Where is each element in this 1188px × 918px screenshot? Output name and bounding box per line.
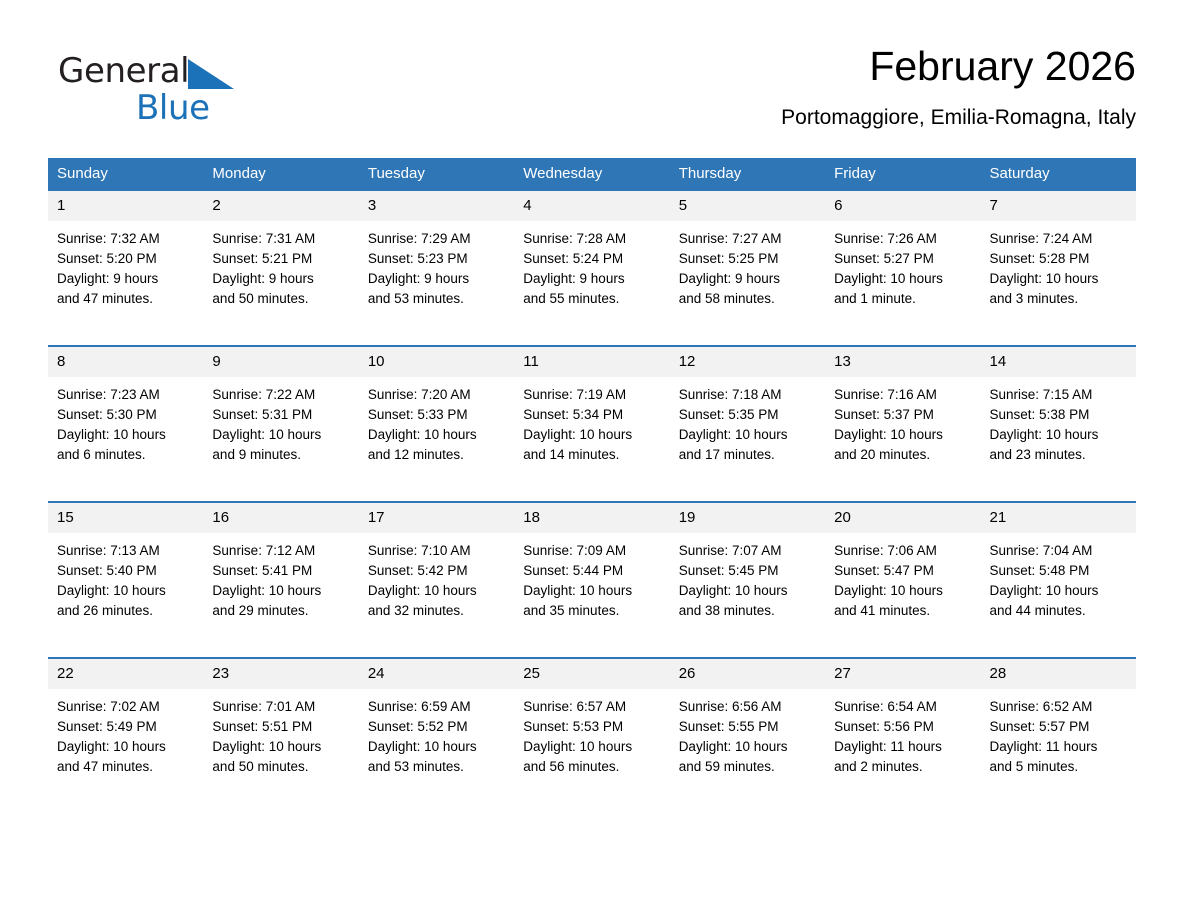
daylight-text-line2: and 47 minutes.	[57, 289, 195, 309]
day-details: Sunrise: 7:22 AM Sunset: 5:31 PM Dayligh…	[203, 377, 358, 501]
sunset-text: Sunset: 5:37 PM	[834, 405, 972, 425]
daylight-text-line2: and 9 minutes.	[212, 445, 350, 465]
daylight-text-line1: Daylight: 9 hours	[212, 269, 350, 289]
daylight-text-line1: Daylight: 10 hours	[368, 737, 506, 757]
day-details: Sunrise: 7:16 AM Sunset: 5:37 PM Dayligh…	[825, 377, 980, 501]
calendar-day-cell[interactable]: 17 Sunrise: 7:10 AM Sunset: 5:42 PM Dayl…	[359, 502, 514, 658]
sunset-text: Sunset: 5:21 PM	[212, 249, 350, 269]
page-title: February 2026	[781, 40, 1136, 92]
daylight-text-line1: Daylight: 10 hours	[212, 425, 350, 445]
daylight-text-line1: Daylight: 10 hours	[212, 737, 350, 757]
day-details: Sunrise: 7:13 AM Sunset: 5:40 PM Dayligh…	[48, 533, 203, 657]
calendar-week-row: 22 Sunrise: 7:02 AM Sunset: 5:49 PM Dayl…	[48, 658, 1136, 813]
weekday-header-wednesday: Wednesday	[514, 158, 669, 191]
day-number: 25	[514, 659, 669, 689]
sunrise-text: Sunrise: 7:16 AM	[834, 385, 972, 405]
sunset-text: Sunset: 5:48 PM	[990, 561, 1128, 581]
sunrise-text: Sunrise: 7:01 AM	[212, 697, 350, 717]
weekday-header-saturday: Saturday	[981, 158, 1136, 191]
daylight-text-line2: and 58 minutes.	[679, 289, 817, 309]
calendar-week-row: 8 Sunrise: 7:23 AM Sunset: 5:30 PM Dayli…	[48, 346, 1136, 502]
logo-general-text: General	[58, 52, 189, 90]
daylight-text-line2: and 23 minutes.	[990, 445, 1128, 465]
sunset-text: Sunset: 5:38 PM	[990, 405, 1128, 425]
daylight-text-line1: Daylight: 10 hours	[679, 581, 817, 601]
sunset-text: Sunset: 5:51 PM	[212, 717, 350, 737]
sunset-text: Sunset: 5:55 PM	[679, 717, 817, 737]
sunset-text: Sunset: 5:20 PM	[57, 249, 195, 269]
sunset-text: Sunset: 5:24 PM	[523, 249, 661, 269]
daylight-text-line2: and 6 minutes.	[57, 445, 195, 465]
daylight-text-line2: and 53 minutes.	[368, 757, 506, 777]
day-details: Sunrise: 7:06 AM Sunset: 5:47 PM Dayligh…	[825, 533, 980, 657]
daylight-text-line2: and 59 minutes.	[679, 757, 817, 777]
day-details: Sunrise: 6:59 AM Sunset: 5:52 PM Dayligh…	[359, 689, 514, 813]
day-details: Sunrise: 7:27 AM Sunset: 5:25 PM Dayligh…	[670, 221, 825, 345]
day-details: Sunrise: 7:12 AM Sunset: 5:41 PM Dayligh…	[203, 533, 358, 657]
daylight-text-line2: and 47 minutes.	[57, 757, 195, 777]
sunset-text: Sunset: 5:35 PM	[679, 405, 817, 425]
calendar-day-cell[interactable]: 28 Sunrise: 6:52 AM Sunset: 5:57 PM Dayl…	[981, 658, 1136, 813]
daylight-text-line2: and 17 minutes.	[679, 445, 817, 465]
daylight-text-line1: Daylight: 10 hours	[57, 581, 195, 601]
title-block: February 2026 Portomaggiore, Emilia-Roma…	[781, 40, 1136, 132]
sunset-text: Sunset: 5:44 PM	[523, 561, 661, 581]
sunset-text: Sunset: 5:52 PM	[368, 717, 506, 737]
day-number: 6	[825, 191, 980, 221]
sunrise-text: Sunrise: 6:57 AM	[523, 697, 661, 717]
calendar-week-row: 15 Sunrise: 7:13 AM Sunset: 5:40 PM Dayl…	[48, 502, 1136, 658]
day-details: Sunrise: 7:09 AM Sunset: 5:44 PM Dayligh…	[514, 533, 669, 657]
day-details: Sunrise: 7:18 AM Sunset: 5:35 PM Dayligh…	[670, 377, 825, 501]
calendar-day-cell[interactable]: 16 Sunrise: 7:12 AM Sunset: 5:41 PM Dayl…	[203, 502, 358, 658]
day-number: 5	[670, 191, 825, 221]
sunset-text: Sunset: 5:34 PM	[523, 405, 661, 425]
weekday-header-row: Sunday Monday Tuesday Wednesday Thursday…	[48, 158, 1136, 191]
calendar-day-cell[interactable]: 7 Sunrise: 7:24 AM Sunset: 5:28 PM Dayli…	[981, 191, 1136, 346]
calendar-body: 1 Sunrise: 7:32 AM Sunset: 5:20 PM Dayli…	[48, 191, 1136, 813]
calendar-day-cell[interactable]: 26 Sunrise: 6:56 AM Sunset: 5:55 PM Dayl…	[670, 658, 825, 813]
daylight-text-line2: and 50 minutes.	[212, 757, 350, 777]
sunrise-text: Sunrise: 7:06 AM	[834, 541, 972, 561]
daylight-text-line2: and 41 minutes.	[834, 601, 972, 621]
daylight-text-line2: and 35 minutes.	[523, 601, 661, 621]
calendar-day-cell[interactable]: 23 Sunrise: 7:01 AM Sunset: 5:51 PM Dayl…	[203, 658, 358, 813]
sunrise-text: Sunrise: 7:28 AM	[523, 229, 661, 249]
sunrise-text: Sunrise: 7:20 AM	[368, 385, 506, 405]
calendar-day-cell[interactable]: 9 Sunrise: 7:22 AM Sunset: 5:31 PM Dayli…	[203, 346, 358, 502]
weekday-header-sunday: Sunday	[48, 158, 203, 191]
day-number: 12	[670, 347, 825, 377]
logo-blue-text: Blue	[136, 88, 210, 128]
calendar-day-cell[interactable]: 5 Sunrise: 7:27 AM Sunset: 5:25 PM Dayli…	[670, 191, 825, 346]
page-subtitle: Portomaggiore, Emilia-Romagna, Italy	[781, 104, 1136, 132]
masthead: General Blue February 2026 Portomaggiore…	[48, 40, 1136, 148]
day-number: 11	[514, 347, 669, 377]
sunrise-text: Sunrise: 6:54 AM	[834, 697, 972, 717]
daylight-text-line1: Daylight: 10 hours	[368, 425, 506, 445]
sunrise-text: Sunrise: 6:52 AM	[990, 697, 1128, 717]
sunset-text: Sunset: 5:28 PM	[990, 249, 1128, 269]
calendar-day-cell[interactable]: 22 Sunrise: 7:02 AM Sunset: 5:49 PM Dayl…	[48, 658, 203, 813]
daylight-text-line2: and 56 minutes.	[523, 757, 661, 777]
day-number: 28	[981, 659, 1136, 689]
generalblue-logo[interactable]: General Blue	[58, 52, 318, 142]
calendar-day-cell[interactable]: 8 Sunrise: 7:23 AM Sunset: 5:30 PM Dayli…	[48, 346, 203, 502]
sunset-text: Sunset: 5:41 PM	[212, 561, 350, 581]
daylight-text-line1: Daylight: 10 hours	[834, 269, 972, 289]
sunrise-text: Sunrise: 7:02 AM	[57, 697, 195, 717]
day-number: 15	[48, 503, 203, 533]
day-number: 9	[203, 347, 358, 377]
daylight-text-line1: Daylight: 10 hours	[523, 581, 661, 601]
sunset-text: Sunset: 5:53 PM	[523, 717, 661, 737]
day-details: Sunrise: 6:54 AM Sunset: 5:56 PM Dayligh…	[825, 689, 980, 813]
daylight-text-line1: Daylight: 9 hours	[57, 269, 195, 289]
day-number: 23	[203, 659, 358, 689]
sunrise-sunset-calendar: Sunday Monday Tuesday Wednesday Thursday…	[48, 158, 1136, 813]
calendar-page: General Blue February 2026 Portomaggiore…	[0, 0, 1188, 918]
calendar-day-cell[interactable]: 6 Sunrise: 7:26 AM Sunset: 5:27 PM Dayli…	[825, 191, 980, 346]
day-details: Sunrise: 7:28 AM Sunset: 5:24 PM Dayligh…	[514, 221, 669, 345]
sunrise-text: Sunrise: 7:22 AM	[212, 385, 350, 405]
sunrise-text: Sunrise: 7:24 AM	[990, 229, 1128, 249]
daylight-text-line2: and 5 minutes.	[990, 757, 1128, 777]
daylight-text-line2: and 53 minutes.	[368, 289, 506, 309]
calendar-day-cell[interactable]: 14 Sunrise: 7:15 AM Sunset: 5:38 PM Dayl…	[981, 346, 1136, 502]
sunset-text: Sunset: 5:47 PM	[834, 561, 972, 581]
day-number: 8	[48, 347, 203, 377]
daylight-text-line2: and 32 minutes.	[368, 601, 506, 621]
day-number: 14	[981, 347, 1136, 377]
daylight-text-line2: and 38 minutes.	[679, 601, 817, 621]
day-number: 16	[203, 503, 358, 533]
sunrise-text: Sunrise: 6:59 AM	[368, 697, 506, 717]
sunrise-text: Sunrise: 7:13 AM	[57, 541, 195, 561]
daylight-text-line2: and 29 minutes.	[212, 601, 350, 621]
sunset-text: Sunset: 5:40 PM	[57, 561, 195, 581]
daylight-text-line1: Daylight: 10 hours	[834, 581, 972, 601]
calendar-day-cell[interactable]: 24 Sunrise: 6:59 AM Sunset: 5:52 PM Dayl…	[359, 658, 514, 813]
calendar-day-cell[interactable]: 15 Sunrise: 7:13 AM Sunset: 5:40 PM Dayl…	[48, 502, 203, 658]
logo-top-row: General	[58, 52, 318, 92]
sunrise-text: Sunrise: 7:29 AM	[368, 229, 506, 249]
daylight-text-line1: Daylight: 10 hours	[523, 737, 661, 757]
sunrise-text: Sunrise: 7:27 AM	[679, 229, 817, 249]
day-number: 17	[359, 503, 514, 533]
day-number: 18	[514, 503, 669, 533]
day-number: 1	[48, 191, 203, 221]
calendar-week-row: 1 Sunrise: 7:32 AM Sunset: 5:20 PM Dayli…	[48, 191, 1136, 346]
day-details: Sunrise: 7:02 AM Sunset: 5:49 PM Dayligh…	[48, 689, 203, 813]
day-details: Sunrise: 7:29 AM Sunset: 5:23 PM Dayligh…	[359, 221, 514, 345]
day-details: Sunrise: 7:04 AM Sunset: 5:48 PM Dayligh…	[981, 533, 1136, 657]
day-number: 21	[981, 503, 1136, 533]
weekday-header-monday: Monday	[203, 158, 358, 191]
sunset-text: Sunset: 5:27 PM	[834, 249, 972, 269]
day-number: 7	[981, 191, 1136, 221]
daylight-text-line2: and 1 minute.	[834, 289, 972, 309]
daylight-text-line1: Daylight: 10 hours	[679, 425, 817, 445]
calendar-day-cell[interactable]: 12 Sunrise: 7:18 AM Sunset: 5:35 PM Dayl…	[670, 346, 825, 502]
sunrise-text: Sunrise: 7:04 AM	[990, 541, 1128, 561]
day-number: 24	[359, 659, 514, 689]
day-details: Sunrise: 6:57 AM Sunset: 5:53 PM Dayligh…	[514, 689, 669, 813]
daylight-text-line1: Daylight: 9 hours	[523, 269, 661, 289]
sunrise-text: Sunrise: 7:18 AM	[679, 385, 817, 405]
calendar-day-cell[interactable]: 2 Sunrise: 7:31 AM Sunset: 5:21 PM Dayli…	[203, 191, 358, 346]
sunrise-text: Sunrise: 7:26 AM	[834, 229, 972, 249]
sunrise-text: Sunrise: 7:09 AM	[523, 541, 661, 561]
day-number: 3	[359, 191, 514, 221]
sunrise-text: Sunrise: 7:31 AM	[212, 229, 350, 249]
daylight-text-line1: Daylight: 10 hours	[990, 581, 1128, 601]
calendar-day-cell[interactable]: 4 Sunrise: 7:28 AM Sunset: 5:24 PM Dayli…	[514, 191, 669, 346]
weekday-header-thursday: Thursday	[670, 158, 825, 191]
calendar-day-cell[interactable]: 27 Sunrise: 6:54 AM Sunset: 5:56 PM Dayl…	[825, 658, 980, 813]
daylight-text-line1: Daylight: 10 hours	[368, 581, 506, 601]
day-details: Sunrise: 7:15 AM Sunset: 5:38 PM Dayligh…	[981, 377, 1136, 501]
calendar-day-cell[interactable]: 18 Sunrise: 7:09 AM Sunset: 5:44 PM Dayl…	[514, 502, 669, 658]
day-number: 10	[359, 347, 514, 377]
day-number: 19	[670, 503, 825, 533]
daylight-text-line1: Daylight: 10 hours	[990, 425, 1128, 445]
sunrise-text: Sunrise: 7:32 AM	[57, 229, 195, 249]
day-number: 13	[825, 347, 980, 377]
day-details: Sunrise: 7:19 AM Sunset: 5:34 PM Dayligh…	[514, 377, 669, 501]
calendar-day-cell[interactable]: 1 Sunrise: 7:32 AM Sunset: 5:20 PM Dayli…	[48, 191, 203, 346]
calendar-day-cell[interactable]: 10 Sunrise: 7:20 AM Sunset: 5:33 PM Dayl…	[359, 346, 514, 502]
sunset-text: Sunset: 5:45 PM	[679, 561, 817, 581]
calendar-day-cell[interactable]: 21 Sunrise: 7:04 AM Sunset: 5:48 PM Dayl…	[981, 502, 1136, 658]
daylight-text-line2: and 3 minutes.	[990, 289, 1128, 309]
day-details: Sunrise: 6:56 AM Sunset: 5:55 PM Dayligh…	[670, 689, 825, 813]
day-number: 20	[825, 503, 980, 533]
calendar-day-cell[interactable]: 25 Sunrise: 6:57 AM Sunset: 5:53 PM Dayl…	[514, 658, 669, 813]
calendar-day-cell[interactable]: 19 Sunrise: 7:07 AM Sunset: 5:45 PM Dayl…	[670, 502, 825, 658]
sunset-text: Sunset: 5:56 PM	[834, 717, 972, 737]
daylight-text-line1: Daylight: 10 hours	[57, 425, 195, 445]
day-details: Sunrise: 7:20 AM Sunset: 5:33 PM Dayligh…	[359, 377, 514, 501]
day-details: Sunrise: 7:31 AM Sunset: 5:21 PM Dayligh…	[203, 221, 358, 345]
calendar-day-cell[interactable]: 13 Sunrise: 7:16 AM Sunset: 5:37 PM Dayl…	[825, 346, 980, 502]
daylight-text-line1: Daylight: 10 hours	[990, 269, 1128, 289]
calendar-day-cell[interactable]: 3 Sunrise: 7:29 AM Sunset: 5:23 PM Dayli…	[359, 191, 514, 346]
daylight-text-line1: Daylight: 10 hours	[523, 425, 661, 445]
sunset-text: Sunset: 5:31 PM	[212, 405, 350, 425]
daylight-text-line1: Daylight: 10 hours	[834, 425, 972, 445]
sunset-text: Sunset: 5:30 PM	[57, 405, 195, 425]
daylight-text-line2: and 14 minutes.	[523, 445, 661, 465]
day-details: Sunrise: 6:52 AM Sunset: 5:57 PM Dayligh…	[981, 689, 1136, 813]
day-details: Sunrise: 7:23 AM Sunset: 5:30 PM Dayligh…	[48, 377, 203, 501]
sunset-text: Sunset: 5:23 PM	[368, 249, 506, 269]
daylight-text-line1: Daylight: 10 hours	[679, 737, 817, 757]
daylight-text-line2: and 50 minutes.	[212, 289, 350, 309]
daylight-text-line2: and 20 minutes.	[834, 445, 972, 465]
daylight-text-line1: Daylight: 10 hours	[57, 737, 195, 757]
weekday-header-tuesday: Tuesday	[359, 158, 514, 191]
day-details: Sunrise: 7:01 AM Sunset: 5:51 PM Dayligh…	[203, 689, 358, 813]
day-details: Sunrise: 7:24 AM Sunset: 5:28 PM Dayligh…	[981, 221, 1136, 345]
calendar-header: Sunday Monday Tuesday Wednesday Thursday…	[48, 158, 1136, 191]
day-details: Sunrise: 7:32 AM Sunset: 5:20 PM Dayligh…	[48, 221, 203, 345]
daylight-text-line2: and 26 minutes.	[57, 601, 195, 621]
sunrise-text: Sunrise: 7:10 AM	[368, 541, 506, 561]
day-number: 4	[514, 191, 669, 221]
day-details: Sunrise: 7:26 AM Sunset: 5:27 PM Dayligh…	[825, 221, 980, 345]
sunrise-text: Sunrise: 7:15 AM	[990, 385, 1128, 405]
daylight-text-line1: Daylight: 11 hours	[990, 737, 1128, 757]
sunrise-text: Sunrise: 7:19 AM	[523, 385, 661, 405]
daylight-text-line2: and 44 minutes.	[990, 601, 1128, 621]
sunrise-text: Sunrise: 6:56 AM	[679, 697, 817, 717]
logo-bottom-row: Blue	[58, 88, 318, 128]
sunrise-text: Sunrise: 7:07 AM	[679, 541, 817, 561]
daylight-text-line2: and 12 minutes.	[368, 445, 506, 465]
calendar-day-cell[interactable]: 20 Sunrise: 7:06 AM Sunset: 5:47 PM Dayl…	[825, 502, 980, 658]
day-number: 2	[203, 191, 358, 221]
day-details: Sunrise: 7:10 AM Sunset: 5:42 PM Dayligh…	[359, 533, 514, 657]
daylight-text-line2: and 55 minutes.	[523, 289, 661, 309]
daylight-text-line1: Daylight: 9 hours	[368, 269, 506, 289]
sunrise-text: Sunrise: 7:23 AM	[57, 385, 195, 405]
daylight-text-line1: Daylight: 10 hours	[212, 581, 350, 601]
daylight-text-line1: Daylight: 9 hours	[679, 269, 817, 289]
sunset-text: Sunset: 5:49 PM	[57, 717, 195, 737]
daylight-text-line2: and 2 minutes.	[834, 757, 972, 777]
sunset-text: Sunset: 5:33 PM	[368, 405, 506, 425]
sunset-text: Sunset: 5:25 PM	[679, 249, 817, 269]
day-number: 26	[670, 659, 825, 689]
weekday-header-friday: Friday	[825, 158, 980, 191]
day-details: Sunrise: 7:07 AM Sunset: 5:45 PM Dayligh…	[670, 533, 825, 657]
sunrise-text: Sunrise: 7:12 AM	[212, 541, 350, 561]
logo-triangle-icon	[188, 59, 234, 94]
sunset-text: Sunset: 5:57 PM	[990, 717, 1128, 737]
daylight-text-line1: Daylight: 11 hours	[834, 737, 972, 757]
sunset-text: Sunset: 5:42 PM	[368, 561, 506, 581]
day-number: 22	[48, 659, 203, 689]
day-number: 27	[825, 659, 980, 689]
calendar-day-cell[interactable]: 11 Sunrise: 7:19 AM Sunset: 5:34 PM Dayl…	[514, 346, 669, 502]
